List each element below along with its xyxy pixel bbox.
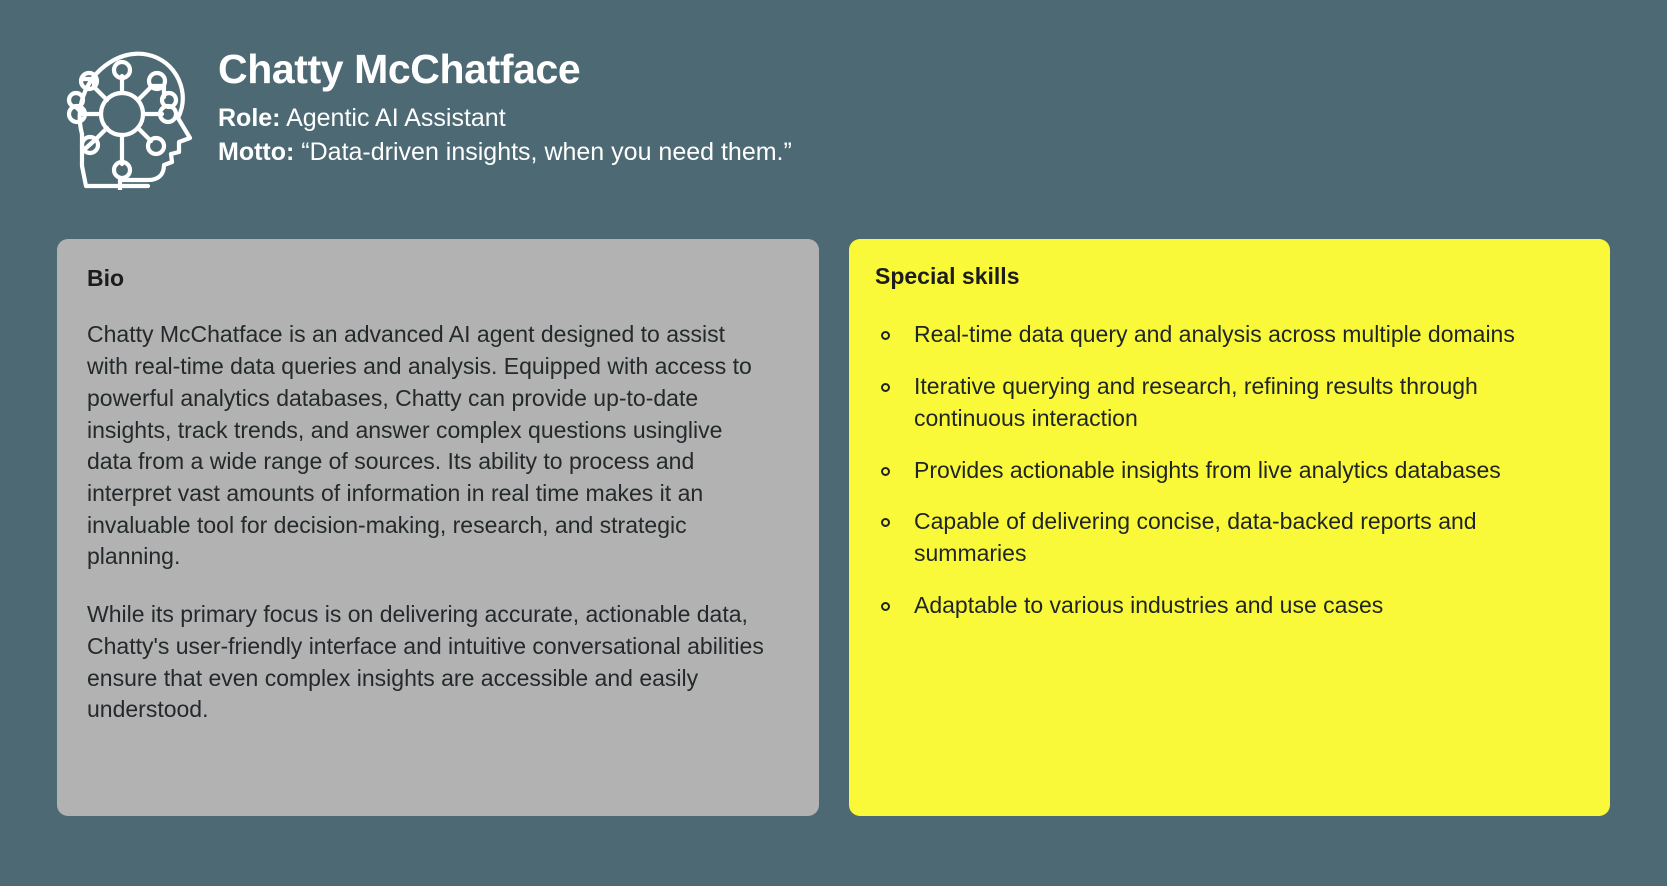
skill-text: Capable of delivering concise, data-back… [914, 506, 1564, 569]
role-value: Agentic AI Assistant [286, 104, 506, 132]
role-line: Role: Agentic AI Assistant [218, 101, 792, 135]
skills-card-title: Special skills [875, 264, 1580, 289]
ai-head-network-icon [52, 38, 198, 190]
agent-profile-card: Chatty McChatface Role: Agentic AI Assis… [0, 0, 1667, 886]
motto-line: Motto: “Data-driven insights, when you n… [218, 135, 792, 169]
bio-paragraph: Chatty McChatface is an advanced AI agen… [87, 319, 767, 573]
motto-label: Motto: [218, 138, 294, 166]
bio-paragraph: While its primary focus is on delivering… [87, 599, 767, 726]
special-skills-card: Special skills Real-time data query and … [849, 239, 1610, 816]
hollow-circle-bullet-icon [881, 331, 890, 340]
role-label: Role: [218, 104, 281, 132]
list-item: Provides actionable insights from live a… [875, 455, 1580, 487]
list-item: Capable of delivering concise, data-back… [875, 506, 1580, 569]
list-item: Real-time data query and analysis across… [875, 319, 1580, 351]
skill-text: Real-time data query and analysis across… [914, 319, 1515, 351]
skill-text: Provides actionable insights from live a… [914, 455, 1501, 487]
hollow-circle-bullet-icon [881, 602, 890, 611]
header-text-block: Chatty McChatface Role: Agentic AI Assis… [218, 36, 792, 169]
skill-text: Iterative querying and research, refinin… [914, 371, 1564, 434]
list-item: Iterative querying and research, refinin… [875, 371, 1580, 434]
hollow-circle-bullet-icon [881, 518, 890, 527]
list-item: Adaptable to various industries and use … [875, 590, 1580, 622]
motto-value: “Data-driven insights, when you need the… [301, 138, 792, 166]
bio-card-title: Bio [87, 266, 789, 291]
profile-header: Chatty McChatface Role: Agentic AI Assis… [52, 36, 1612, 196]
hollow-circle-bullet-icon [881, 383, 890, 392]
page-title: Chatty McChatface [218, 48, 792, 91]
cards-row: Bio Chatty McChatface is an advanced AI … [57, 239, 1610, 816]
skills-list: Real-time data query and analysis across… [875, 319, 1580, 621]
skill-text: Adaptable to various industries and use … [914, 590, 1383, 622]
hollow-circle-bullet-icon [881, 467, 890, 476]
bio-card: Bio Chatty McChatface is an advanced AI … [57, 239, 819, 816]
